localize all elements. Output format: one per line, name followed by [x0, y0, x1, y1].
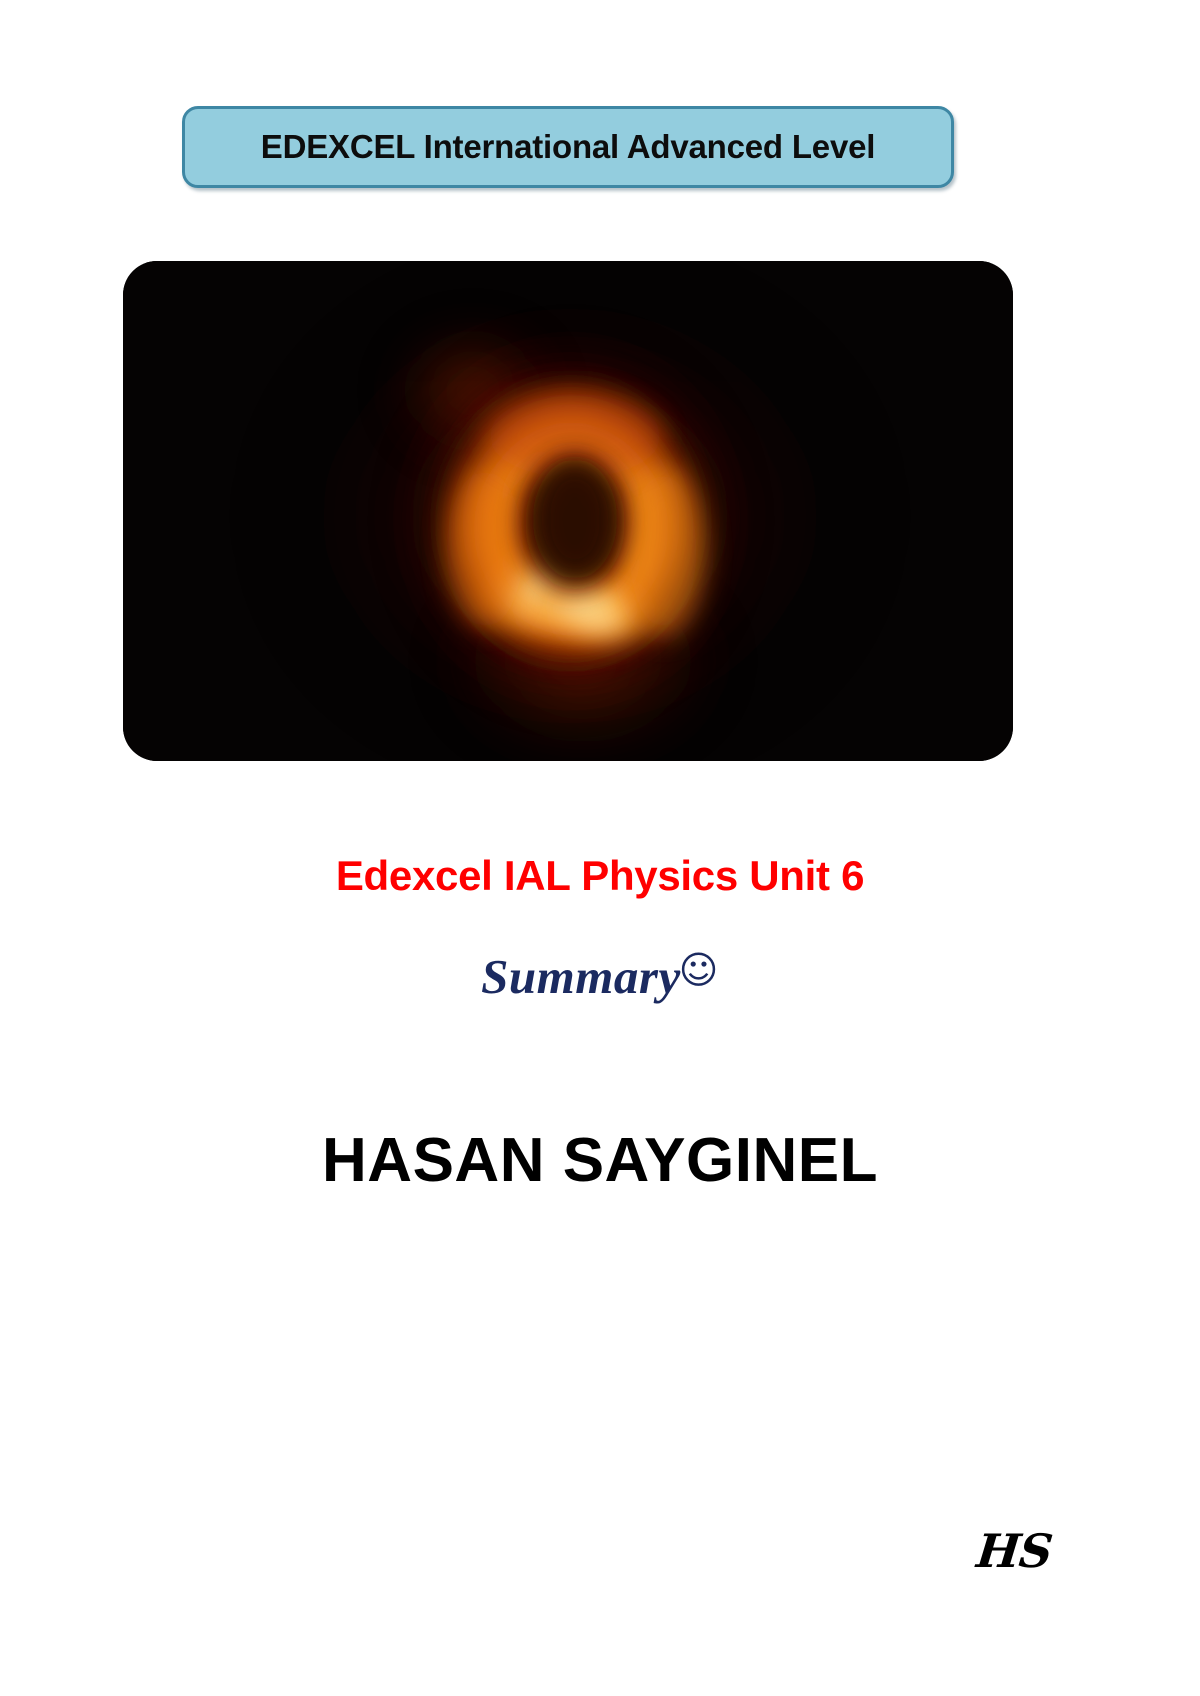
black-hole-image	[123, 261, 1013, 761]
signature-initials: HS	[974, 1524, 1054, 1578]
document-page: EDEXCEL International Advanced Level	[0, 0, 1200, 1696]
header-banner: EDEXCEL International Advanced Level	[182, 106, 954, 188]
smiley-icon: ☺	[679, 948, 719, 992]
author-name: HASAN SAYGINEL	[0, 1125, 1200, 1196]
page-subtitle: Summary☺	[0, 948, 1200, 1005]
subtitle-text: Summary	[481, 949, 681, 1004]
black-hole-graphic	[123, 261, 1013, 761]
header-banner-label: EDEXCEL International Advanced Level	[261, 128, 875, 166]
page-title: Edexcel IAL Physics Unit 6	[0, 852, 1200, 900]
